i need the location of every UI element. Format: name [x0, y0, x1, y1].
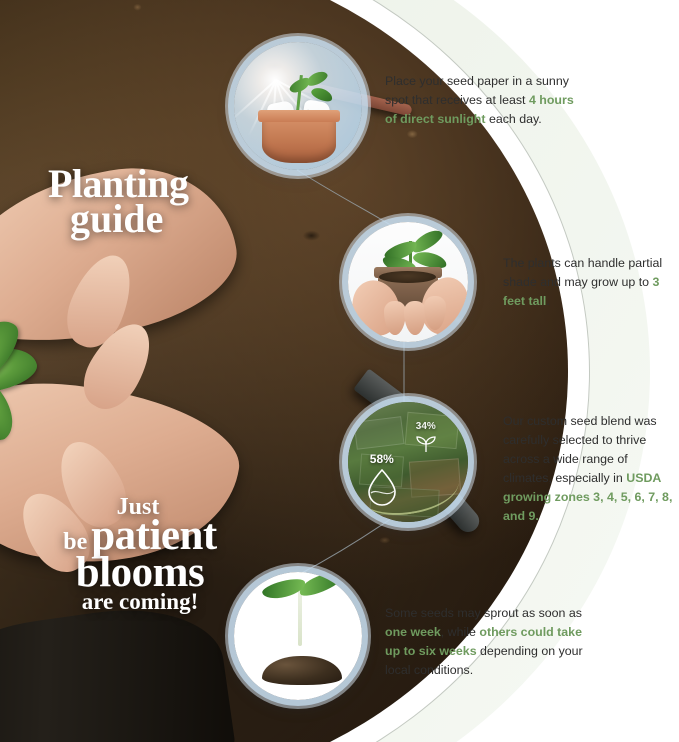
field-parcel [354, 416, 405, 450]
step-text-zones: Our custom seed blend was carefully sele… [503, 412, 675, 526]
sprouting-seedling-scene [234, 572, 362, 700]
step-text-sprout-time: Some seeds may sprout as soon as one wee… [385, 604, 590, 680]
page-title-line-2: guide [70, 201, 188, 236]
body-text: , while [441, 625, 480, 639]
tagline-line-4: are coming! [30, 592, 250, 612]
body-text: each day. [486, 112, 542, 126]
page-title: Planting guide [48, 166, 188, 236]
finger [384, 301, 406, 335]
step-image-hands-potted-plant [348, 222, 468, 342]
step-image-aerial-farmland: 34% 58% [348, 402, 468, 522]
seed-paper-pot-scene [234, 42, 362, 170]
moisture-indicator: 58% [365, 452, 399, 511]
water-droplet-icon [365, 466, 399, 506]
tagline-line-3: blooms [30, 555, 250, 592]
highlighted-text: one week [385, 625, 441, 639]
soil-mound [262, 656, 341, 684]
body-text: The plants can handle partial shade and … [503, 256, 662, 289]
body-text: . [546, 294, 549, 308]
terracotta-pot [262, 119, 336, 163]
growth-indicator: 34% [413, 421, 439, 459]
aerial-farmland-scene: 34% 58% [348, 402, 468, 522]
body-text: Some seeds may sprout as soon as [385, 606, 582, 620]
growth-value: 34% [413, 421, 439, 432]
step-image-seed-paper-pot [234, 42, 362, 170]
step-image-sprouting-seedling [234, 572, 362, 700]
hands-potted-plant-scene [348, 222, 468, 342]
step-text-shade-height: The plants can handle partial shade and … [503, 254, 671, 311]
planting-guide-infographic: Planting guide Just be patient blooms ar… [0, 0, 679, 742]
step-text-sunlight: Place your seed paper in a sunny spot th… [385, 72, 585, 129]
tagline: Just be patient blooms are coming! [30, 497, 250, 611]
tagline-word-are-coming: are coming! [82, 589, 198, 614]
sprout-icon [413, 432, 439, 454]
young-seedling [0, 303, 51, 453]
moisture-value: 58% [365, 452, 399, 466]
